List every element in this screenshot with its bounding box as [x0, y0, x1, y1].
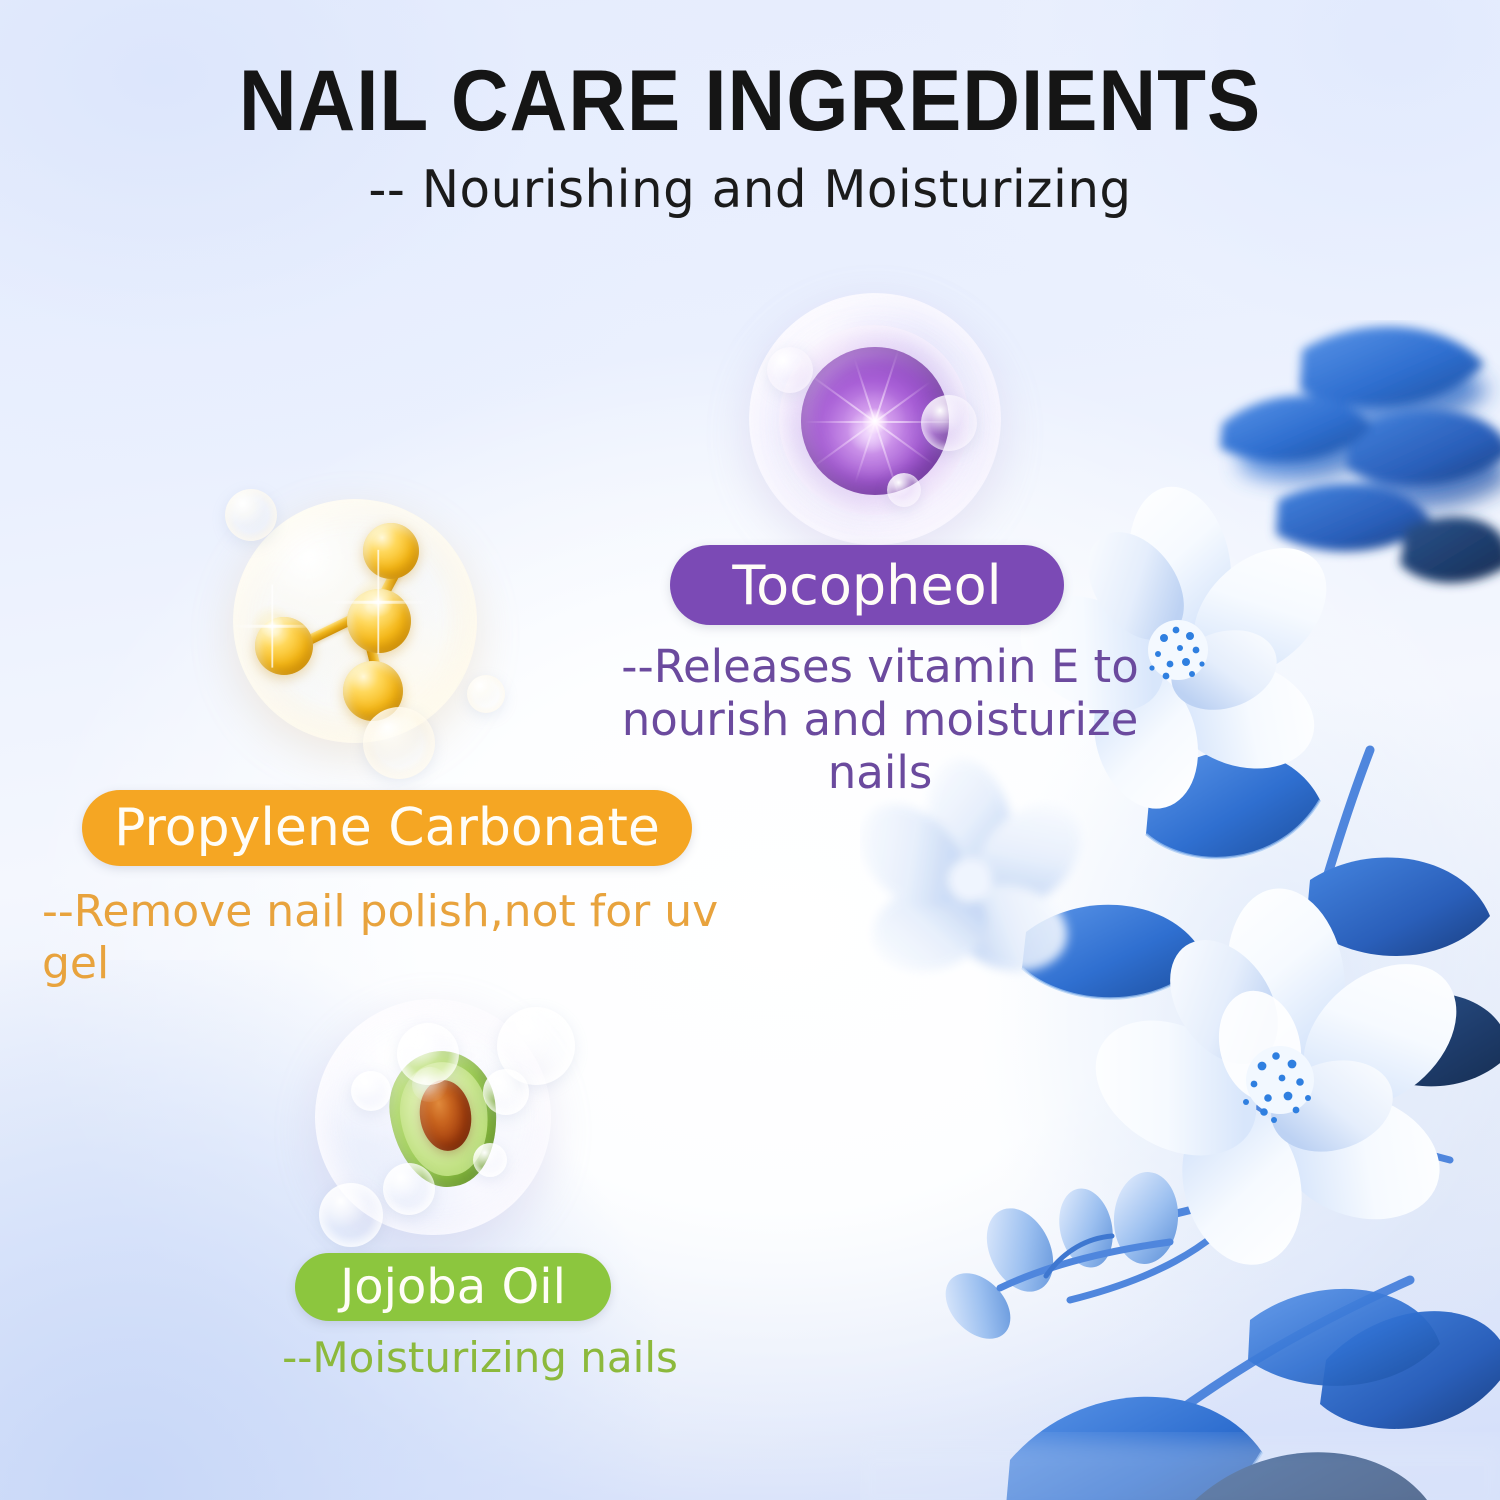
bubble-droplet	[397, 1023, 459, 1085]
molecule-node	[363, 523, 419, 579]
propylene-carbonate-artwork	[215, 485, 525, 795]
bubble-droplet	[319, 1183, 383, 1247]
bubble-droplet	[383, 1163, 435, 1215]
bubble-droplet	[467, 675, 505, 713]
ingredient-description-jojoba-oil: --Moisturizing nails	[280, 1333, 680, 1383]
ingredient-description-propylene-carbonate: --Remove nail polish,not for uv gel	[42, 886, 742, 990]
bubble-droplet	[767, 347, 813, 393]
page-title: NAIL CARE INGREDIENTS	[53, 56, 1448, 146]
jojoba-oil-artwork	[305, 985, 605, 1275]
ingredient-description-tocopheol: --Releases vitamin E to nourish and mois…	[600, 640, 1160, 799]
bubble-droplet	[473, 1143, 507, 1177]
bubble-droplet	[887, 473, 921, 507]
header: NAIL CARE INGREDIENTS -- Nourishing and …	[0, 0, 1500, 220]
bubble-droplet	[225, 489, 277, 541]
page-subtitle: -- Nourishing and Moisturizing	[30, 160, 1470, 220]
tocopheol-artwork	[735, 285, 1010, 560]
bubble-droplet	[363, 707, 435, 779]
ingredient-pill-jojoba-oil[interactable]: Jojoba Oil	[295, 1253, 611, 1321]
bubble-droplet	[483, 1069, 529, 1115]
ingredient-pill-tocopheol[interactable]: Tocopheol	[670, 545, 1064, 625]
ingredient-pill-propylene-carbonate[interactable]: Propylene Carbonate	[82, 790, 692, 866]
bubble-droplet	[921, 395, 977, 451]
bubble-droplet	[351, 1071, 391, 1111]
molecule-node	[347, 589, 411, 653]
infographic-canvas: NAIL CARE INGREDIENTS -- Nourishing and …	[0, 0, 1500, 1500]
molecule-node	[255, 617, 313, 675]
